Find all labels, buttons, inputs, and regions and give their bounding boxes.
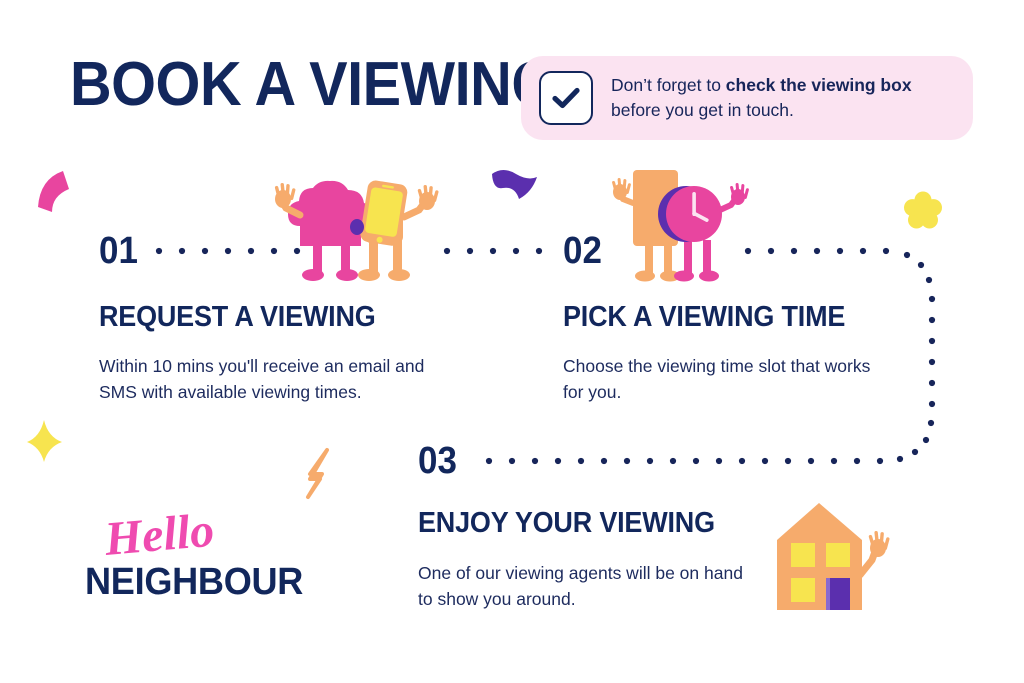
callout-text-bold: check the viewing box — [726, 75, 912, 95]
callout-text: Don’t forget to check the viewing box be… — [611, 73, 955, 123]
checkbox-checked-icon[interactable] — [539, 71, 593, 125]
check-mark-icon — [551, 86, 581, 110]
callout-text-part1: Don’t forget to — [611, 75, 726, 95]
person-with-phone-illustration — [275, 179, 439, 281]
page-title: BOOK A VIEWING — [70, 54, 556, 116]
step-3-body: One of our viewing agents will be on han… — [418, 560, 748, 612]
step-2-number: 02 — [563, 232, 602, 270]
orange-zigzag-decoration — [308, 450, 327, 497]
step-1-heading: REQUEST A VIEWING — [99, 303, 376, 332]
logo-script-word: Hello — [103, 507, 216, 564]
door-and-clock-illustration — [612, 170, 749, 282]
purple-ribbon-decoration — [492, 170, 537, 199]
callout-text-part2: before you get in touch. — [611, 100, 794, 120]
step-1-body: Within 10 mins you'll receive an email a… — [99, 353, 429, 405]
step-2-heading: PICK A VIEWING TIME — [563, 303, 845, 332]
pink-arc-decoration — [38, 171, 69, 212]
yellow-sparkle-decoration — [27, 420, 62, 462]
step-1-number: 01 — [99, 232, 138, 270]
yellow-flower-decoration — [904, 192, 942, 229]
callout-banner: Don’t forget to check the viewing box be… — [521, 56, 973, 140]
house-waving-illustration — [777, 503, 890, 610]
logo-main-word: NEIGHBOUR — [85, 563, 303, 601]
step-3-heading: ENJOY YOUR VIEWING — [418, 509, 715, 538]
step-3-number: 03 — [418, 442, 457, 480]
step-2-body: Choose the viewing time slot that works … — [563, 353, 873, 405]
